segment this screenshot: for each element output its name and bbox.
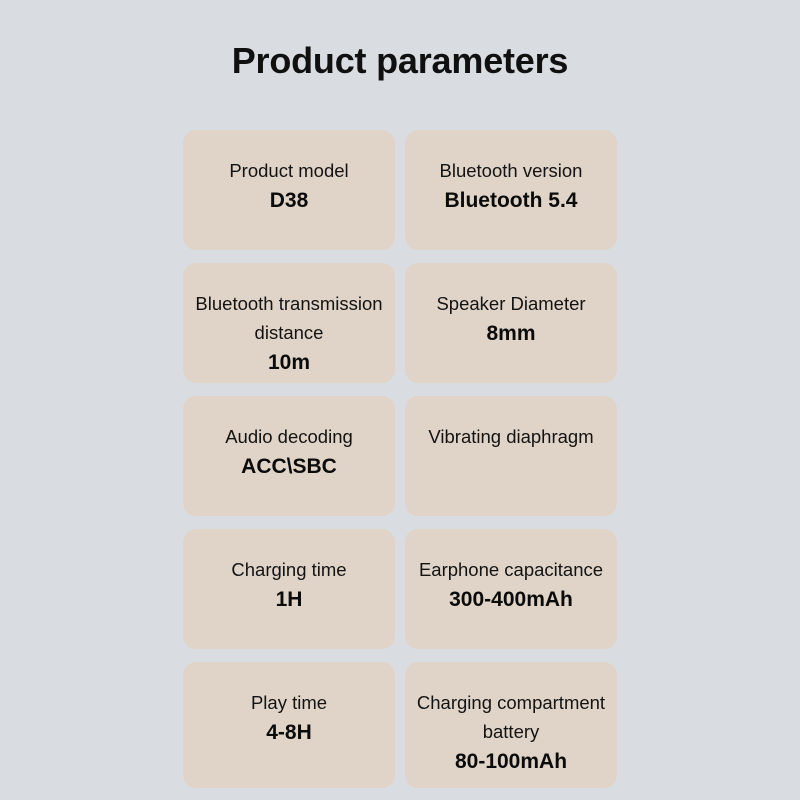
spec-label: Charging compartment battery [409, 688, 613, 746]
spec-label: Earphone capacitance [409, 555, 613, 584]
spec-label: Charging time [187, 555, 391, 584]
spec-card-product-model: Product model D38 [183, 130, 395, 250]
spec-value: 10m [187, 349, 391, 376]
spec-row: Audio decoding ACC\SBC Vibrating diaphra… [183, 396, 617, 516]
spec-card-earphone-capacitance: Earphone capacitance 300-400mAh [405, 529, 617, 649]
spec-label: Bluetooth version [409, 156, 613, 185]
spec-card-vibrating-diaphragm: Vibrating diaphragm [405, 396, 617, 516]
spec-card-bluetooth-version: Bluetooth version Bluetooth 5.4 [405, 130, 617, 250]
spec-label: Product model [187, 156, 391, 185]
spec-card-speaker-diameter: Speaker Diameter 8mm [405, 263, 617, 383]
spec-card-play-time: Play time 4-8H [183, 662, 395, 788]
spec-label: Play time [187, 688, 391, 717]
spec-label: Bluetooth transmission distance [187, 289, 391, 347]
spec-value: 8mm [409, 320, 613, 347]
spec-card-grid: Product model D38 Bluetooth version Blue… [183, 130, 617, 788]
spec-label: Vibrating diaphragm [409, 422, 613, 451]
spec-value: 300-400mAh [409, 586, 613, 613]
spec-card-bluetooth-transmission-distance: Bluetooth transmission distance 10m [183, 263, 395, 383]
spec-value: 1H [187, 586, 391, 613]
spec-label: Audio decoding [187, 422, 391, 451]
spec-row: Charging time 1H Earphone capacitance 30… [183, 529, 617, 649]
spec-value: 80-100mAh [409, 748, 613, 775]
product-parameters-page: Product parameters Product model D38 Blu… [0, 0, 800, 800]
spec-value: 4-8H [187, 719, 391, 746]
spec-card-charging-time: Charging time 1H [183, 529, 395, 649]
spec-row: Play time 4-8H Charging compartment batt… [183, 662, 617, 788]
spec-value: ACC\SBC [187, 453, 391, 480]
spec-label: Speaker Diameter [409, 289, 613, 318]
spec-card-audio-decoding: Audio decoding ACC\SBC [183, 396, 395, 516]
spec-value: Bluetooth 5.4 [409, 187, 613, 214]
spec-row: Bluetooth transmission distance 10m Spea… [183, 263, 617, 383]
spec-value: D38 [187, 187, 391, 214]
spec-row: Product model D38 Bluetooth version Blue… [183, 130, 617, 250]
page-title: Product parameters [0, 38, 800, 84]
spec-card-charging-compartment-battery: Charging compartment battery 80-100mAh [405, 662, 617, 788]
